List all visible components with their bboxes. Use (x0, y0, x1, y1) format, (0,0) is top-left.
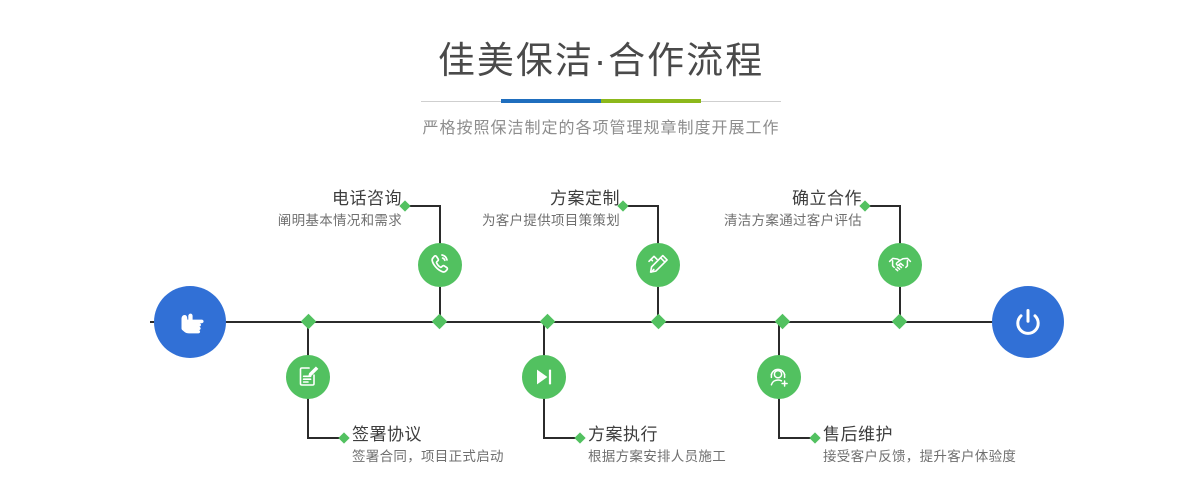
timeline-end-node (992, 286, 1064, 358)
handshake-icon (887, 252, 913, 278)
pointing-hand-icon (170, 302, 210, 342)
connector-v-2 (307, 398, 309, 438)
step-icon-1 (418, 243, 462, 287)
connector-v-1 (439, 205, 441, 245)
step-title-6: 售后维护 (823, 424, 1016, 446)
axis-diamond-6 (892, 314, 908, 330)
connector-h-5 (868, 205, 901, 207)
axis-diamond-2 (432, 314, 448, 330)
step-label-4: 方案执行 根据方案安排人员施工 (588, 424, 726, 468)
step-label-6: 售后维护 接受客户反馈，提升客户体验度 (823, 424, 1016, 468)
step-icon-5 (878, 243, 922, 287)
step-icon-6 (757, 355, 801, 399)
step-label-2: 签署协议 签署合同，项目正式启动 (352, 424, 504, 468)
label-diamond-2 (338, 432, 349, 443)
connector-v-5 (899, 205, 901, 245)
step-desc-1: 阐明基本情况和需求 (278, 210, 402, 232)
play-skip-icon (532, 365, 556, 389)
timeline-axis (150, 321, 1050, 323)
label-diamond-4 (574, 432, 585, 443)
step-title-1: 电话咨询 (278, 188, 402, 210)
step-desc-5: 清洁方案通过客户评估 (724, 210, 862, 232)
connector-h-3 (626, 205, 659, 207)
phone-call-icon (427, 252, 453, 278)
connector-v-4 (543, 398, 545, 438)
step-desc-2: 签署合同，项目正式启动 (352, 446, 504, 468)
step-label-5: 确立合作 清洁方案通过客户评估 (724, 188, 862, 232)
timeline-start-node (154, 286, 226, 358)
step-icon-3 (636, 243, 680, 287)
step-title-5: 确立合作 (724, 188, 862, 210)
label-diamond-6 (809, 432, 820, 443)
step-title-2: 签署协议 (352, 424, 504, 446)
step-icon-2 (286, 355, 330, 399)
step-label-3: 方案定制 为客户提供项目策策划 (482, 188, 620, 232)
document-edit-icon (295, 364, 321, 390)
connector-v-6 (778, 398, 780, 438)
timeline: 电话咨询 阐明基本情况和需求 签署协议 签署合同，项目正式启动 (0, 0, 1202, 502)
connector-v-3 (657, 205, 659, 245)
connector-h-1 (408, 205, 441, 207)
step-label-1: 电话咨询 阐明基本情况和需求 (278, 188, 402, 232)
process-flow-infographic: 佳美保洁·合作流程 严格按照保洁制定的各项管理规章制度开展工作 (0, 0, 1202, 502)
axis-diamond-4 (651, 314, 667, 330)
step-title-4: 方案执行 (588, 424, 726, 446)
step-icon-4 (522, 355, 566, 399)
step-desc-6: 接受客户反馈，提升客户体验度 (823, 446, 1016, 468)
axis-diamond-1 (301, 314, 317, 330)
pencil-ruler-icon (645, 252, 671, 278)
headset-support-icon (767, 365, 792, 390)
power-icon (1008, 302, 1048, 342)
step-title-3: 方案定制 (482, 188, 620, 210)
step-desc-4: 根据方案安排人员施工 (588, 446, 726, 468)
step-desc-3: 为客户提供项目策策划 (482, 210, 620, 232)
